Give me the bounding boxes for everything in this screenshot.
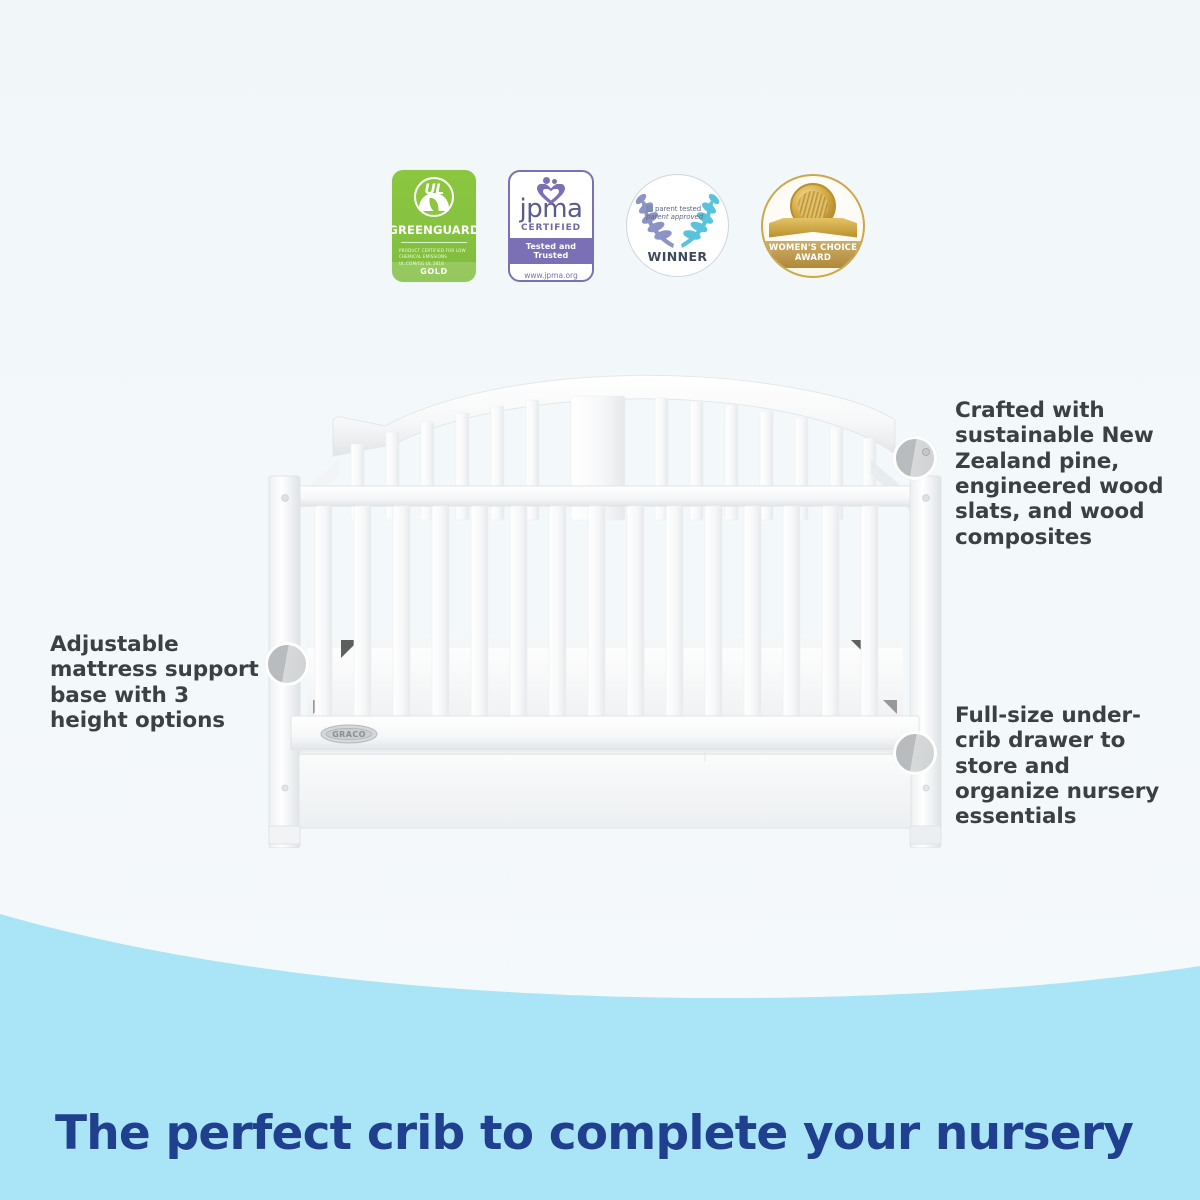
jpma-heart-icon xyxy=(534,177,568,195)
callout-text-sustainable-materials: Crafted with sustainable New Zealand pin… xyxy=(955,398,1170,550)
ptpa-award-label: WINNER xyxy=(627,249,728,264)
greenguard-level: GOLD xyxy=(392,262,476,282)
screw-detail-icon xyxy=(922,448,930,456)
badge-jpma: jpma CERTIFIED Tested and Trusted www.jp… xyxy=(508,170,594,282)
callout-marker-sustainable-materials[interactable] xyxy=(893,436,937,480)
greenguard-name: GREENGUARD xyxy=(392,223,476,237)
jpma-certified-label: CERTIFIED xyxy=(521,223,581,233)
ribbon-icon xyxy=(769,218,857,238)
jpma-url: www.jpma.org xyxy=(524,271,578,280)
callout-marker-adjustable-mattress[interactable] xyxy=(265,642,309,686)
badge-greenguard: UL GREENGUARD PRODUCT CERTIFIED FOR LOW … xyxy=(392,170,476,282)
ptpa-wordmark: parent tested parent approved xyxy=(646,205,712,221)
infographic-page: The perfect crib to complete your nurser… xyxy=(0,0,1200,1200)
jpma-tagline: Tested and Trusted xyxy=(510,238,592,264)
divider xyxy=(401,242,467,243)
product-image-crib: GRACO xyxy=(255,348,955,848)
ptpa-square-icon xyxy=(646,205,653,212)
page-headline: The perfect crib to complete your nurser… xyxy=(55,1108,1145,1160)
callout-text-under-crib-drawer: Full-size under-crib drawer to store and… xyxy=(955,703,1160,830)
badge-womens-choice-award: WINNER WOMEN'S CHOICE AWARD xyxy=(761,174,865,278)
callout-marker-under-crib-drawer[interactable] xyxy=(893,731,937,775)
brand-plate: GRACO xyxy=(321,725,377,743)
ptpa-line-2: parent approved xyxy=(646,213,712,221)
ul-logo-icon: UL xyxy=(414,177,454,217)
callout-text-adjustable-mattress: Adjustable mattress support base with 3 … xyxy=(50,632,265,733)
badge-parent-tested-parent-approved: parent tested parent approved WINNER xyxy=(626,174,729,277)
svg-text:GRACO: GRACO xyxy=(332,730,366,739)
wca-line-2: AWARD xyxy=(763,254,863,264)
certification-badge-row: UL GREENGUARD PRODUCT CERTIFIED FOR LOW … xyxy=(392,163,872,288)
wca-title: WOMEN'S CHOICE AWARD xyxy=(763,241,863,267)
ptpa-line-1: parent tested xyxy=(655,205,701,213)
